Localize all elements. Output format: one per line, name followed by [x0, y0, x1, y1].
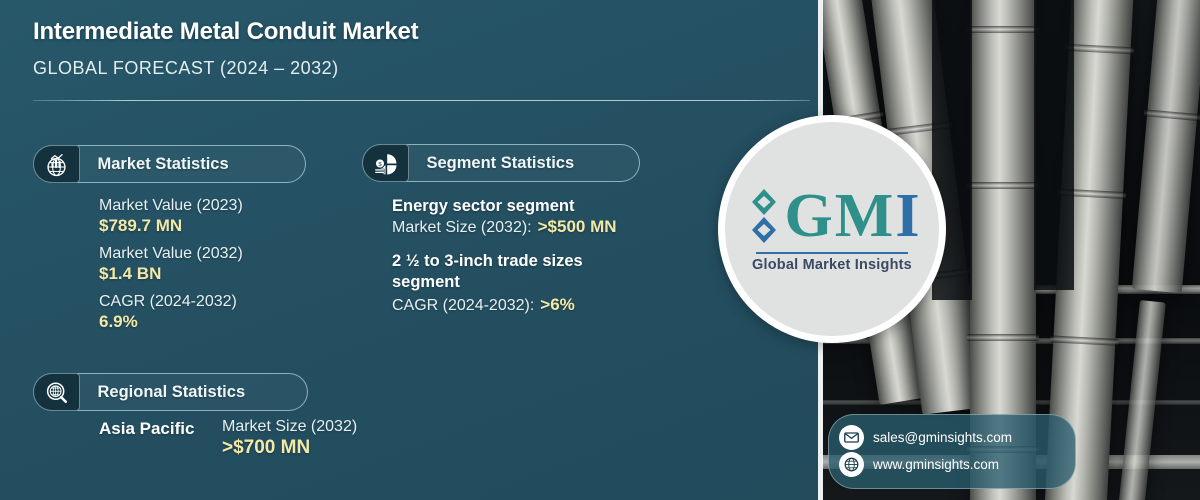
gmi-diamond-mark [746, 187, 782, 245]
infographic-root: Intermediate Metal Conduit Market GLOBAL… [0, 0, 1200, 500]
segment-statistics-body: Energy sector segment Market Size (2032)… [392, 197, 637, 315]
section-title-segment-statistics: Segment Statistics [409, 154, 597, 173]
section-header-segment-statistics[interactable]: $ Segment Statistics [362, 144, 640, 182]
contact-website: www.gminsights.com [873, 457, 999, 472]
gmi-logo: G M I Global Market Insights [718, 115, 946, 343]
section-title-market-statistics: Market Statistics [80, 155, 251, 174]
globe-magnifier-icon [33, 373, 80, 411]
contact-website-row[interactable]: www.gminsights.com [839, 452, 1061, 477]
segment-metric-label: CAGR (2024-2032): [392, 297, 534, 315]
globe-icon [839, 452, 864, 477]
logo-letter-g: G [785, 185, 832, 247]
logo-lettermark: G M I [746, 185, 919, 247]
stat-value: $1.4 BN [99, 264, 243, 284]
section-header-regional-statistics[interactable]: Regional Statistics [33, 373, 308, 411]
logo-letter-i: I [895, 185, 918, 247]
pipe-shadow [1034, 0, 1074, 290]
segment-metric: CAGR (2024-2032): >6% [392, 295, 637, 315]
contact-panel: sales@gminsights.com www.gminsights.com [828, 414, 1076, 489]
page-subtitle: GLOBAL FORECAST (2024 – 2032) [33, 58, 339, 79]
header-divider [33, 100, 810, 101]
region-name: Asia Pacific [99, 418, 204, 439]
stat-label: CAGR (2024-2032) [99, 293, 243, 311]
envelope-icon [839, 425, 864, 450]
globe-bar-chart-icon [33, 145, 80, 183]
stat-value: $789.7 MN [99, 216, 243, 236]
segment-name: 2 ½ to 3-inch trade sizes segment [392, 251, 637, 294]
pie-chart-money-icon: $ [362, 144, 409, 182]
logo-rule [756, 252, 908, 254]
segment-metric-value: >$500 MN [538, 217, 617, 237]
region-metric: Market Size (2032) >$700 MN [222, 418, 357, 459]
region-metric-value: >$700 MN [222, 437, 357, 459]
segment-name: Energy sector segment [392, 197, 637, 216]
market-statistics-body: Market Value (2023) $789.7 MN Market Val… [99, 197, 243, 332]
logo-tagline: Global Market Insights [752, 257, 912, 273]
regional-statistics-body: Asia Pacific Market Size (2032) >$700 MN [99, 418, 357, 459]
segment-metric-value: >6% [540, 295, 575, 315]
stat-label: Market Value (2023) [99, 197, 243, 215]
region-metric-label: Market Size (2032) [222, 418, 357, 436]
stat-value: 6.9% [99, 312, 243, 332]
section-title-regional-statistics: Regional Statistics [80, 383, 268, 402]
logo-letter-m: M [835, 185, 893, 247]
page-title: Intermediate Metal Conduit Market [33, 18, 418, 46]
segment-metric-label: Market Size (2032): [392, 219, 532, 237]
section-header-market-statistics[interactable]: Market Statistics [33, 145, 306, 183]
segment-metric: Market Size (2032): >$500 MN [392, 217, 637, 237]
stat-label: Market Value (2032) [99, 245, 243, 263]
left-content-panel: Intermediate Metal Conduit Market GLOBAL… [0, 0, 822, 500]
contact-email: sales@gminsights.com [873, 430, 1012, 445]
contact-email-row[interactable]: sales@gminsights.com [839, 425, 1061, 450]
